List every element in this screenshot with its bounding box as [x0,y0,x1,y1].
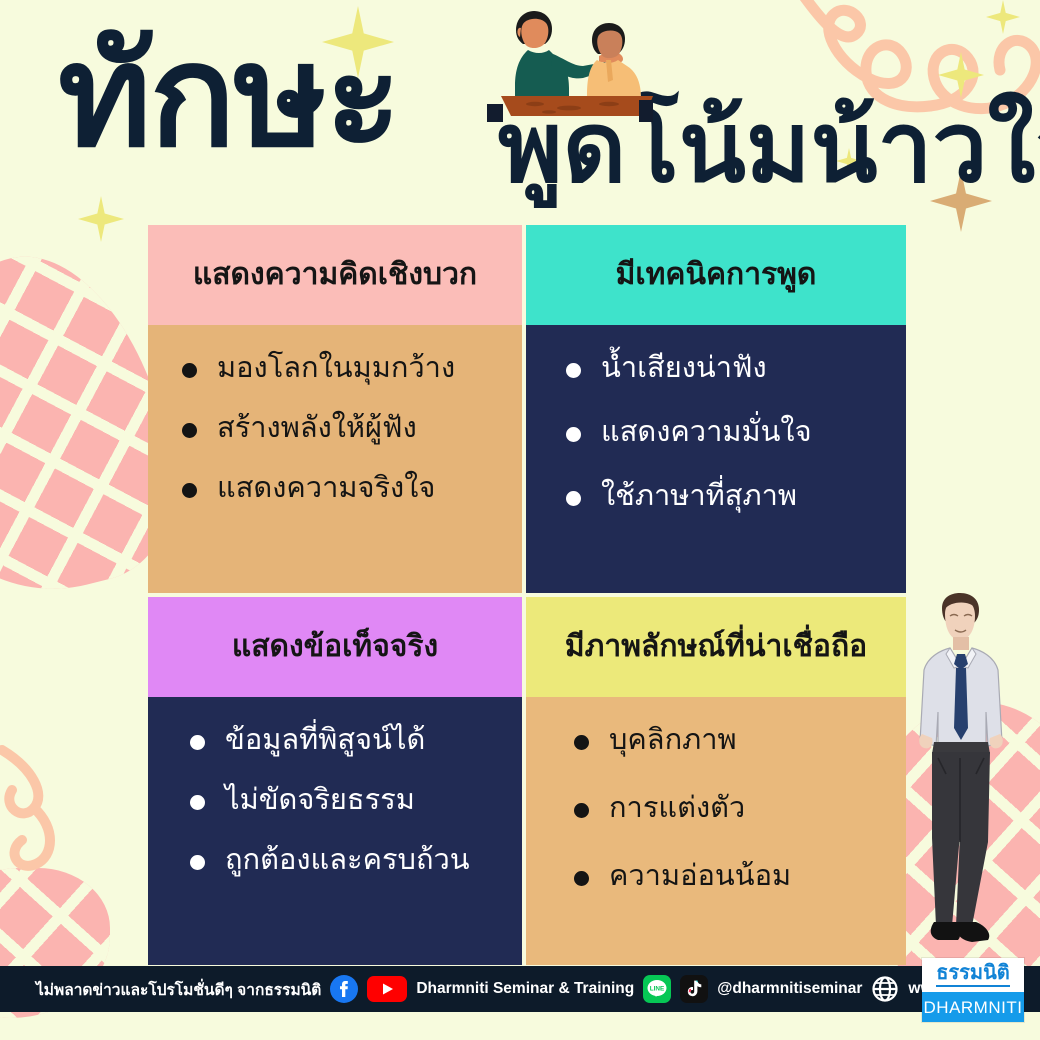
quadrant-header: แสดงข้อเท็จจริง [148,597,522,697]
quadrant-heading-text: แสดงข้อเท็จจริง [232,632,438,662]
svg-text:LINE: LINE [650,986,665,993]
quadrant-show-facts: แสดงข้อเท็จจริง ข้อมูลที่พิสูจน์ได้ ไม่ข… [148,597,522,965]
logo-thai-row: ธรรมนิติ [922,958,1024,992]
bullet-dot-icon [182,483,197,498]
list-item: ไม่ขัดจริยธรรม [190,783,504,817]
list-item-label: ข้อมูลที่พิสูจน์ได้ [225,723,425,757]
title-main-text: ทักษะ [58,26,399,168]
line-icon[interactable]: LINE [643,975,671,1003]
bullet-dot-icon [574,735,589,750]
logo-latin-row: DHARMNITI [922,992,1024,1022]
quadrant-body: บุคลิกภาพ การแต่งตัว ความอ่อนน้อม [526,697,906,965]
list-item-label: แสดงความมั่นใจ [601,415,812,449]
footer-social-handle: @dharmnitiseminar [717,980,862,998]
list-item: มองโลกในมุมกว้าง [182,351,504,385]
bullet-dot-icon [566,363,581,378]
list-item-label: ความอ่อนน้อม [609,859,791,893]
quadrant-speaking-technique: มีเทคนิคการพูด น้ำเสียงน่าฟัง แสดงความมั… [526,225,906,593]
tiktok-icon[interactable] [680,975,708,1003]
quadrant-heading-text: มีเทคนิคการพูด [616,260,817,290]
list-item: การแต่งตัว [574,791,888,825]
youtube-icon[interactable] [367,975,407,1003]
list-item: แสดงความมั่นใจ [566,415,888,449]
bullet-dot-icon [190,855,205,870]
quadrant-header: มีเทคนิคการพูด [526,225,906,325]
bullet-dot-icon [182,363,197,378]
footer-tagline: ไม่พลาดข่าวและโปรโมชั่นดีๆ จากธรรมนิติ [36,977,321,1002]
quadrant-body: มองโลกในมุมกว้าง สร้างพลังให้ผู้ฟัง แสดง… [148,325,522,593]
footer-bar: ไม่พลาดข่าวและโปรโมชั่นดีๆ จากธรรมนิติ D… [0,966,1040,1012]
list-item-label: แสดงความจริงใจ [217,471,435,505]
bullet-dot-icon [182,423,197,438]
bullet-list: มองโลกในมุมกว้าง สร้างพลังให้ผู้ฟัง แสดง… [182,351,504,506]
curly-doodle-icon [0,740,136,890]
bullet-dot-icon [574,803,589,818]
quadrant-credible-image: มีภาพลักษณ์ที่น่าเชื่อถือ บุคลิกภาพ การแ… [526,597,906,965]
bullet-dot-icon [574,871,589,886]
list-item-label: ใช้ภาษาที่สุภาพ [601,479,797,513]
bullet-list: ข้อมูลที่พิสูจน์ได้ ไม่ขัดจริยธรรม ถูกต้… [190,723,504,878]
list-item-label: สร้างพลังให้ผู้ฟัง [217,411,417,445]
quadrant-header: มีภาพลักษณ์ที่น่าเชื่อถือ [526,597,906,697]
footer-page-name: Dharmniti Seminar & Training [416,980,634,998]
list-item-label: ไม่ขัดจริยธรรม [225,783,415,817]
quadrant-body: ข้อมูลที่พิสูจน์ได้ ไม่ขัดจริยธรรม ถูกต้… [148,697,522,965]
quadrant-heading-text: มีภาพลักษณ์ที่น่าเชื่อถือ [565,632,867,662]
list-item: ข้อมูลที่พิสูจน์ได้ [190,723,504,757]
infographic-poster: ทักษะ พูดโน้มน้าวใจ [0,0,1040,1040]
list-item: น้ำเสียงน่าฟัง [566,351,888,385]
list-item-label: มองโลกในมุมกว้าง [217,351,455,385]
bullet-dot-icon [190,795,205,810]
skills-grid: แสดงความคิดเชิงบวก มองโลกในมุมกว้าง สร้า… [148,225,906,965]
list-item: แสดงความจริงใจ [182,471,504,505]
list-item-label: การแต่งตัว [609,791,745,825]
list-item: บุคลิกภาพ [574,723,888,757]
businessman-illustration [898,592,1024,964]
list-item-label: ถูกต้องและครบถ้วน [225,843,470,877]
list-item: สร้างพลังให้ผู้ฟัง [182,411,504,445]
logo-thai-text: ธรรมนิติ [936,963,1010,987]
list-item-label: บุคลิกภาพ [609,723,737,757]
bullet-dot-icon [566,491,581,506]
list-item: ใช้ภาษาที่สุภาพ [566,479,888,513]
logo-latin-text: DHARMNITI [924,999,1023,1016]
quadrant-positive-thinking: แสดงความคิดเชิงบวก มองโลกในมุมกว้าง สร้า… [148,225,522,593]
list-item-label: น้ำเสียงน่าฟัง [601,351,767,385]
bullet-dot-icon [566,427,581,442]
facebook-icon[interactable] [330,975,358,1003]
bullet-dot-icon [190,735,205,750]
two-people-talking-illustration [487,4,653,122]
globe-icon[interactable] [871,975,899,1003]
quadrant-heading-text: แสดงความคิดเชิงบวก [193,260,477,290]
list-item: ความอ่อนน้อม [574,859,888,893]
quadrant-header: แสดงความคิดเชิงบวก [148,225,522,325]
bullet-list: บุคลิกภาพ การแต่งตัว ความอ่อนน้อม [574,723,888,894]
quadrant-body: น้ำเสียงน่าฟัง แสดงความมั่นใจ ใช้ภาษาที่… [526,325,906,593]
bullet-list: น้ำเสียงน่าฟัง แสดงความมั่นใจ ใช้ภาษาที่… [566,351,888,514]
dharmniti-logo[interactable]: ธรรมนิติ DHARMNITI [922,958,1024,1022]
list-item: ถูกต้องและครบถ้วน [190,843,504,877]
